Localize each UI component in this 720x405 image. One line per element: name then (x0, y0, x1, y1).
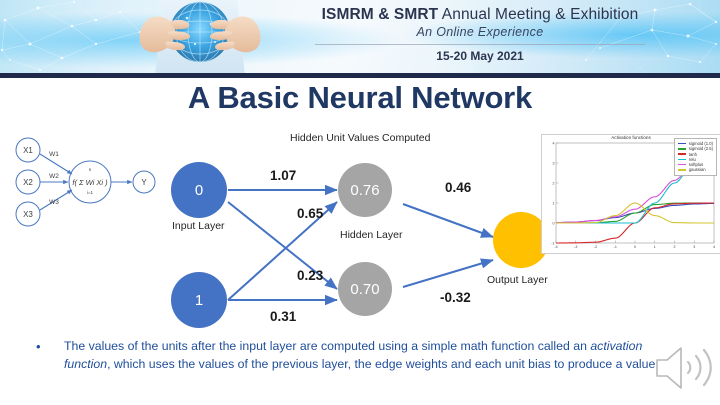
legend-item-5: gaussian (678, 167, 713, 172)
banner-subtitle: An Online Experience (300, 25, 660, 39)
perceptron-input-x2-label: X2 (23, 178, 33, 187)
legend-label: gaussian (689, 167, 706, 172)
banner-title-regular: Annual Meeting & Exhibition (438, 6, 638, 23)
chart-ytick-label: 0 (553, 221, 555, 225)
perceptron-input-x3-label: X3 (23, 210, 33, 219)
perceptron-weight-w1-label: W1 (49, 151, 59, 158)
output-layer-label: Output Layer (487, 274, 548, 286)
hidden-unit-values-heading: Hidden Unit Values Computed (290, 132, 430, 144)
page-title: A Basic Neural Network (0, 80, 720, 116)
chart-xtick-label: 0 (634, 245, 636, 249)
banner-title-bold: ISMRM & SMRT (322, 6, 439, 23)
perceptron-sum-lower-limit: i=1 (87, 190, 94, 195)
slide-canvas: ISMRM & SMRT Annual Meeting & Exhibition… (0, 0, 720, 405)
speaker-icon[interactable] (651, 336, 717, 398)
perceptron-weight-w2-label: W2 (49, 173, 59, 180)
legend-swatch-icon (678, 148, 686, 149)
chart-xtick-label: -4 (554, 245, 557, 249)
banner-title: ISMRM & SMRT Annual Meeting & Exhibition (300, 6, 660, 24)
hidden-node-0[interactable]: 0.76 (338, 163, 392, 217)
weight-hidden0-output: 0.46 (445, 180, 471, 195)
bullet-item: • The values of the units after the inpu… (36, 338, 684, 373)
bullet-text: The values of the units after the input … (64, 338, 684, 373)
edge-hidden1-output (403, 260, 493, 287)
perceptron-diagram: X1 X2 X3 W1 W2 W3 f( Σ Wi Xi ) n i=1 Y (4, 132, 164, 232)
edge-hidden0-output (403, 204, 493, 237)
chart-legend: sigmoid (1.0)sigmoid (2.5)tanhrelusoftpl… (674, 138, 717, 176)
chart-xtick-label: 4 (713, 245, 715, 249)
perceptron-weight-w3-label: W3 (49, 199, 59, 206)
legend-swatch-icon (678, 143, 686, 144)
banner-dates: 15-20 May 2021 (300, 49, 660, 63)
legend-swatch-icon (678, 153, 686, 154)
perceptron-input-x1-label: X1 (23, 146, 33, 155)
chart-ytick-label: -1 (551, 241, 554, 245)
legend-swatch-icon (678, 169, 686, 170)
body-bullets: • The values of the units after the inpu… (36, 338, 684, 373)
banner-text-block: ISMRM & SMRT Annual Meeting & Exhibition… (300, 6, 660, 63)
bullet-text-part2: , which uses the values of the previous … (107, 357, 655, 371)
weight-input0-hidden1: 0.23 (297, 268, 323, 283)
weight-hidden1-output: -0.32 (440, 290, 471, 305)
chart-xtick-label: -2 (594, 245, 597, 249)
input-node-0[interactable]: 0 (171, 162, 227, 218)
input-node-1[interactable]: 1 (171, 272, 227, 328)
chart-xtick-label: 2 (674, 245, 676, 249)
weight-input1-hidden1: 0.31 (270, 309, 296, 324)
hidden-node-1[interactable]: 0.70 (338, 262, 392, 316)
input-node-1-value: 1 (195, 292, 203, 309)
banner-bottom-bar (0, 73, 720, 78)
hidden-layer-label: Hidden Layer (340, 229, 402, 241)
activation-functions-chart: Activation functions -4-3-2-101234-10123… (541, 134, 720, 254)
hidden-node-0-value: 0.76 (350, 182, 379, 199)
legend-swatch-icon (678, 164, 686, 165)
chart-ytick-label: 3 (553, 161, 555, 165)
chart-ytick-label: 2 (553, 181, 555, 185)
chart-xtick-label: 3 (693, 245, 695, 249)
perceptron-function-label: f( Σ Wi Xi ) (72, 178, 108, 187)
perceptron-output-label: Y (141, 178, 147, 187)
weight-input1-hidden0: 0.65 (297, 206, 323, 221)
chart-xtick-label: -3 (574, 245, 577, 249)
weight-input0-hidden0: 1.07 (270, 168, 296, 183)
legend-swatch-icon (678, 159, 686, 160)
input-node-0-value: 0 (195, 182, 203, 199)
bullet-marker: • (36, 338, 64, 355)
neural-network-diagram: Hidden Unit Values Computed 0 1 0.76 0.7… (160, 132, 570, 337)
conference-banner: ISMRM & SMRT Annual Meeting & Exhibition… (0, 0, 720, 73)
input-layer-label: Input Layer (172, 220, 225, 232)
chart-xtick-label: 1 (654, 245, 656, 249)
chart-series-1 (556, 203, 714, 223)
banner-person-globe-image (105, 0, 295, 73)
chart-ytick-label: 4 (553, 141, 555, 145)
bullet-text-part1: The values of the units after the input … (64, 339, 590, 353)
chart-xtick-label: -1 (614, 245, 617, 249)
banner-divider (315, 44, 645, 45)
hidden-node-1-value: 0.70 (350, 281, 379, 298)
chart-ytick-label: 1 (553, 201, 555, 205)
